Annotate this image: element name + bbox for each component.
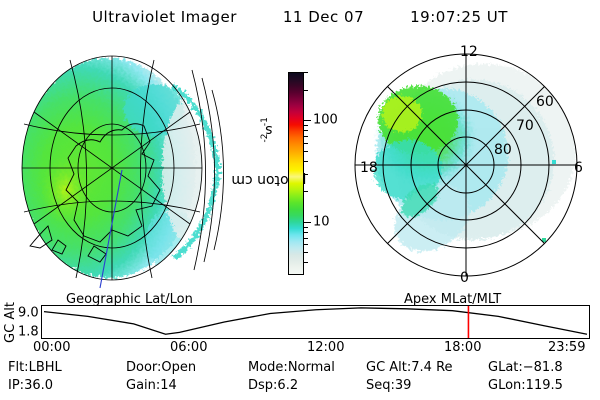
status-field-key: Gain:	[126, 378, 160, 393]
orbit-xtick-2: 12:00	[307, 341, 344, 354]
colorbar-minor-tick	[304, 130, 308, 131]
colorbar-minor-tick	[304, 125, 308, 126]
status-field-key: GC Alt:	[366, 360, 411, 375]
orbit-xtick-1: 06:00	[170, 341, 207, 354]
orbit-altitude-plot	[41, 305, 590, 339]
status-field: Gain: 14	[126, 378, 177, 393]
status-field-value: Open	[161, 360, 196, 375]
colorbar-minor-tick	[304, 252, 308, 253]
status-field-value: 14	[160, 378, 177, 393]
status-field-key: Seq:	[366, 378, 395, 393]
status-field-value: Normal	[288, 360, 335, 375]
colorbar-tick-label: 10	[313, 215, 330, 228]
orbit-xtick-3: 18:00	[444, 341, 481, 354]
colorbar-minor-tick	[304, 90, 308, 91]
status-field-value: 6.2	[277, 378, 298, 393]
mlt-label-12: 12	[460, 44, 478, 60]
status-field: Flt: LBHL	[8, 360, 62, 375]
colorbar-minor-tick	[304, 238, 308, 239]
status-field-value: LBHL	[29, 360, 62, 375]
status-field-key: Dsp:	[248, 378, 277, 393]
observation-date: 11 Dec 07	[283, 8, 364, 26]
colorbar-minor-tick	[304, 227, 308, 228]
status-field-key: IP:	[8, 378, 24, 393]
instrument-title: Ultraviolet Imager	[92, 8, 237, 26]
colorbar-major-tick	[304, 120, 311, 121]
colorbar-gradient	[288, 72, 304, 275]
status-field: Seq: 39	[366, 378, 411, 393]
colorbar-minor-tick	[304, 161, 308, 162]
colorbar-minor-tick	[304, 191, 308, 192]
colorbar-minor-tick	[304, 174, 308, 175]
status-row: IP: 36.0Gain: 14Dsp: 6.2Seq: 39GLon: 119…	[0, 378, 600, 395]
orbit-xtick-4: 23:59	[548, 341, 585, 354]
colorbar-tick-marks	[304, 72, 311, 275]
colorbar-minor-tick	[304, 232, 308, 233]
status-field: GC Alt: 7.4 Re	[366, 360, 453, 375]
status-field-value: 36.0	[24, 378, 53, 393]
status-field-value: −81.8	[523, 360, 563, 375]
orbit-y-axis-label: GC Alt	[2, 300, 18, 344]
altitude-track-line	[44, 308, 587, 334]
colorbar-minor-tick	[304, 262, 308, 263]
colorbar-minor-tick	[304, 151, 308, 152]
colorbar-tick-label: 100	[313, 114, 338, 127]
mlt-label-18: 18	[360, 160, 378, 176]
status-field: Dsp: 6.2	[248, 378, 298, 393]
status-field-key: Mode:	[248, 360, 288, 375]
status-field-key: GLat:	[488, 360, 523, 375]
mlat-label-80: 80	[494, 142, 512, 158]
status-field-value: 7.4 Re	[411, 360, 452, 375]
status-field-key: GLon:	[488, 378, 526, 393]
status-field: Door: Open	[126, 360, 196, 375]
colorbar-minor-tick	[304, 244, 308, 245]
header-bar: Ultraviolet Imager 11 Dec 07 19:07:25 UT	[0, 6, 600, 28]
status-field: GLat: −81.8	[488, 360, 563, 375]
orbit-xtick-0: 00:00	[33, 341, 70, 354]
colorbar-axis-label: photon cm-2s-1	[258, 60, 278, 275]
observation-time: 19:07:25 UT	[410, 8, 508, 26]
colorbar-minor-tick	[304, 136, 308, 137]
colorbar-minor-tick	[304, 72, 308, 73]
status-field-key: Flt:	[8, 360, 29, 375]
mlat-label-70: 70	[516, 118, 534, 134]
geographic-image-panel	[4, 50, 252, 295]
colorbar-major-tick	[304, 222, 311, 223]
status-field: Mode: Normal	[248, 360, 335, 375]
status-field: IP: 36.0	[8, 378, 53, 393]
orbit-ytick-low: 1.8	[18, 326, 39, 339]
mlt-label-0: 0	[460, 270, 469, 286]
mlat-label-60: 60	[536, 94, 554, 110]
mlat-rings-and-spokes	[355, 54, 577, 276]
orbit-ytick-high: 9.0	[18, 307, 39, 320]
colorbar-minor-tick	[304, 143, 308, 144]
status-row: Flt: LBHLDoor: OpenMode: NormalGC Alt: 7…	[0, 360, 600, 377]
status-field-value: 119.5	[526, 378, 563, 393]
status-field: GLon: 119.5	[488, 378, 563, 393]
mlt-label-6: 6	[574, 160, 583, 176]
apex-polar-panel: 12 18 6 0 60 70 80	[346, 42, 596, 294]
status-field-value: 39	[395, 378, 412, 393]
status-field-key: Door:	[126, 360, 161, 375]
